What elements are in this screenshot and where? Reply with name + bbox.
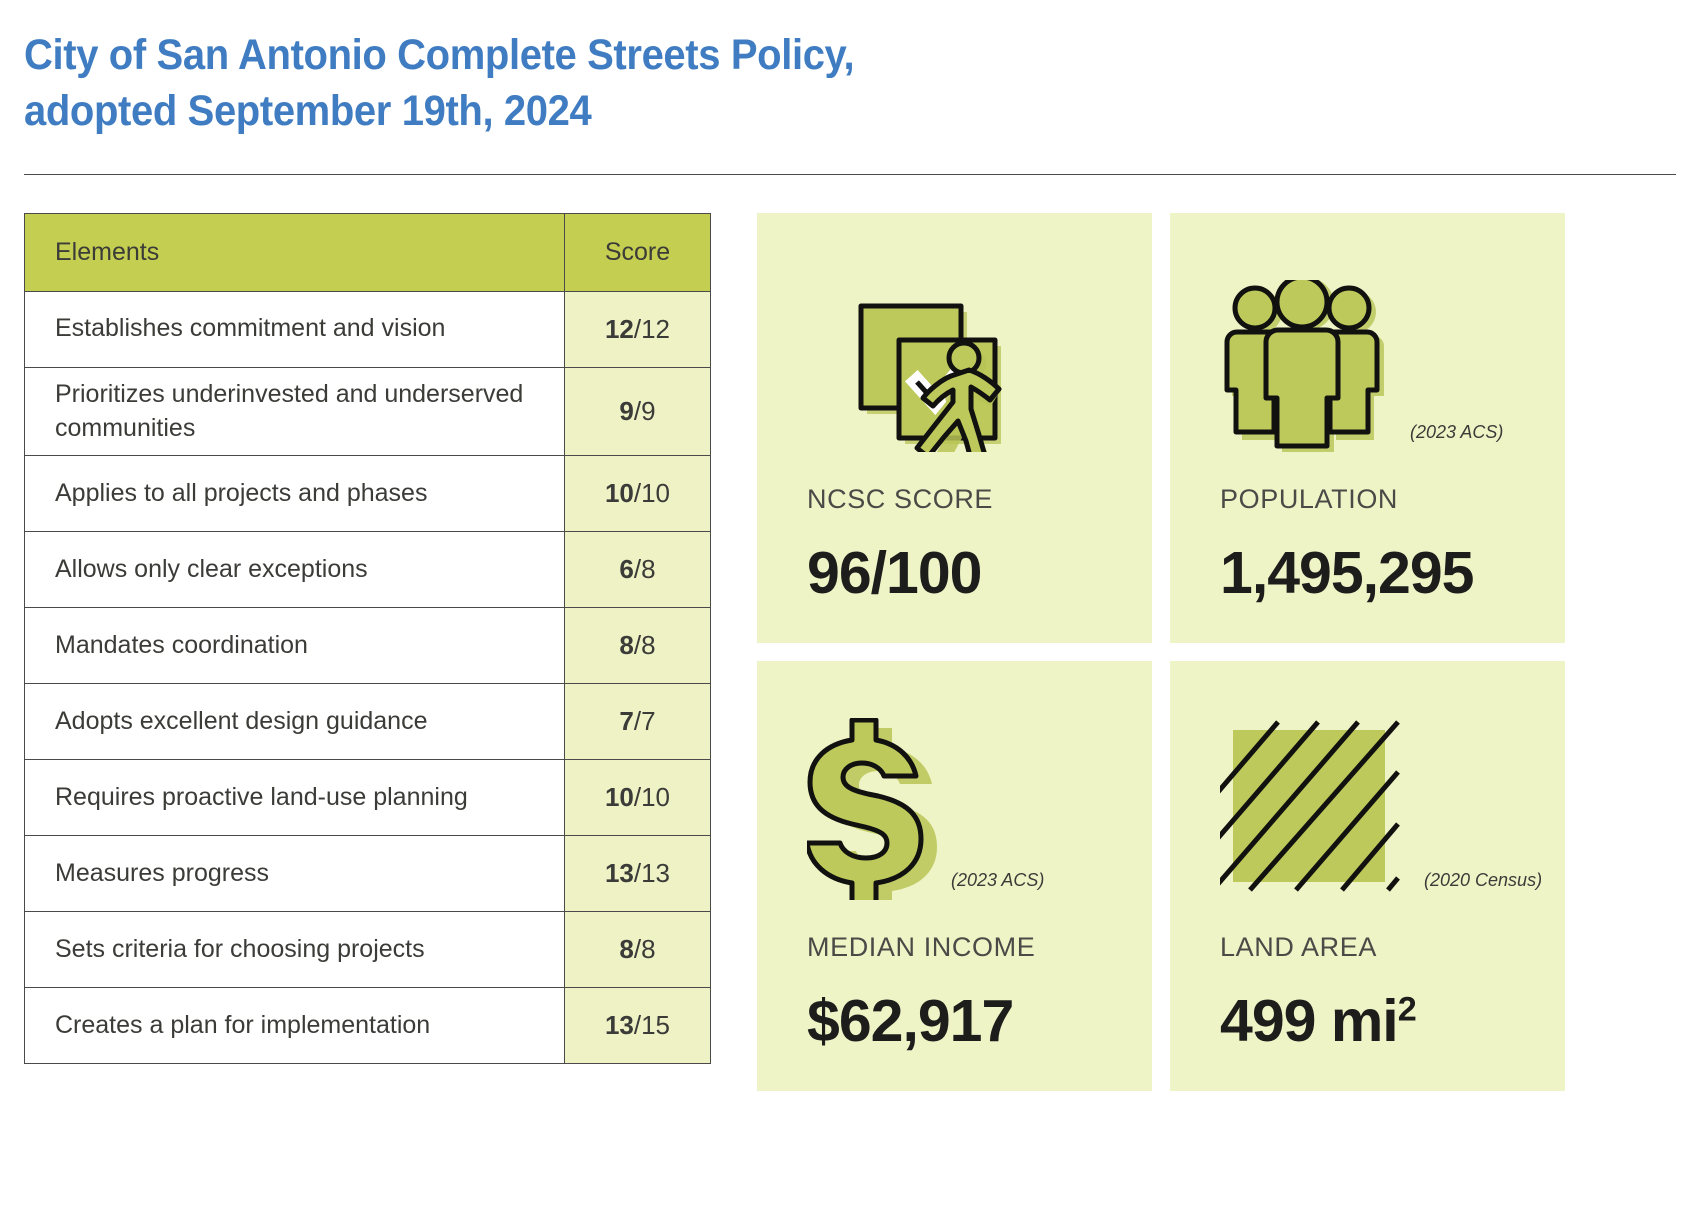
icon-row: (2023 ACS) [1170, 257, 1565, 457]
card-label-population: POPULATION [1220, 484, 1398, 515]
score-earned: 10 [605, 782, 634, 812]
stat-card-grid: NCSC SCORE 96/100 [757, 213, 1565, 1091]
stat-card-ncsc-score: NCSC SCORE 96/100 [757, 213, 1152, 643]
score-possible: /15 [634, 1010, 670, 1040]
element-name-cell: Sets criteria for choosing projects [25, 912, 565, 988]
land-area-number: 499 mi [1220, 988, 1398, 1054]
column-header-elements: Elements [25, 213, 565, 291]
hatched-square-icon [1220, 720, 1410, 905]
score-cell: 8/8 [565, 608, 711, 684]
score-possible: /9 [634, 396, 656, 426]
element-name-cell: Requires proactive land-use planning [25, 760, 565, 836]
policy-elements-table: Elements Score Establishes commitment an… [24, 213, 711, 1065]
score-earned: 7 [619, 706, 633, 736]
score-cell: 6/8 [565, 532, 711, 608]
score-cell: 10/10 [565, 456, 711, 532]
score-cell: 13/15 [565, 988, 711, 1064]
table-row: Creates a plan for implementation13/15 [25, 988, 711, 1064]
main-content: Elements Score Establishes commitment an… [0, 175, 1700, 1091]
score-cell: 10/10 [565, 760, 711, 836]
table-row: Establishes commitment and vision12/12 [25, 291, 711, 367]
table-row: Mandates coordination8/8 [25, 608, 711, 684]
card-note: (2020 Census) [1424, 870, 1542, 891]
table-row: Sets criteria for choosing projects8/8 [25, 912, 711, 988]
score-earned: 8 [619, 934, 633, 964]
land-area-exponent: 2 [1398, 990, 1416, 1028]
icon-row [757, 257, 1152, 457]
score-cell: 12/12 [565, 291, 711, 367]
score-earned: 6 [619, 554, 633, 584]
card-value-ncsc-score: 96/100 [807, 544, 981, 603]
table-header-row: Elements Score [25, 213, 711, 291]
score-earned: 9 [619, 396, 633, 426]
score-possible: /8 [634, 554, 656, 584]
card-note: (2023 ACS) [951, 870, 1044, 891]
score-possible: /8 [634, 934, 656, 964]
score-possible: /10 [634, 782, 670, 812]
card-value-population: 1,495,295 [1220, 544, 1473, 603]
score-earned: 8 [619, 630, 633, 660]
score-earned: 13 [605, 1010, 634, 1040]
score-cell: 9/9 [565, 367, 711, 456]
score-earned: 12 [605, 314, 634, 344]
element-name-cell: Creates a plan for implementation [25, 988, 565, 1064]
icon-row: (2023 ACS) [757, 705, 1152, 905]
table-row: Allows only clear exceptions6/8 [25, 532, 711, 608]
element-name-cell: Mandates coordination [25, 608, 565, 684]
dollar-sign-icon [807, 718, 937, 905]
score-cell: 13/13 [565, 836, 711, 912]
element-name-cell: Allows only clear exceptions [25, 532, 565, 608]
table-row: Prioritizes underinvested and underserve… [25, 367, 711, 456]
score-earned: 10 [605, 478, 634, 508]
score-earned: 13 [605, 858, 634, 888]
stat-card-land-area: (2020 Census) LAND AREA 499 mi2 [1170, 661, 1565, 1091]
card-value-land-area: 499 mi2 [1220, 992, 1416, 1051]
card-value-median-income: $62,917 [807, 992, 1013, 1051]
card-label-land-area: LAND AREA [1220, 932, 1377, 963]
icon-row: (2020 Census) [1170, 705, 1565, 905]
element-name-cell: Applies to all projects and phases [25, 456, 565, 532]
element-name-cell: Establishes commitment and vision [25, 291, 565, 367]
checklist-pedestrian-icon [807, 274, 1007, 457]
score-possible: /12 [634, 314, 670, 344]
card-label-median-income: MEDIAN INCOME [807, 932, 1035, 963]
page-header: City of San Antonio Complete Streets Pol… [0, 0, 1700, 140]
stat-card-population: (2023 ACS) POPULATION 1,495,295 [1170, 213, 1565, 643]
element-name-cell: Adopts excellent design guidance [25, 684, 565, 760]
page-title: City of San Antonio Complete Streets Pol… [24, 28, 1560, 140]
element-name-cell: Prioritizes underinvested and underserve… [25, 367, 565, 456]
score-possible: /10 [634, 478, 670, 508]
table-row: Requires proactive land-use planning10/1… [25, 760, 711, 836]
people-group-icon [1220, 280, 1396, 457]
column-header-score: Score [565, 213, 711, 291]
score-cell: 7/7 [565, 684, 711, 760]
card-note: (2023 ACS) [1410, 422, 1503, 443]
score-cell: 8/8 [565, 912, 711, 988]
table-row: Measures progress13/13 [25, 836, 711, 912]
score-possible: /13 [634, 858, 670, 888]
element-name-cell: Measures progress [25, 836, 565, 912]
table-row: Adopts excellent design guidance7/7 [25, 684, 711, 760]
stat-card-median-income: (2023 ACS) MEDIAN INCOME $62,917 [757, 661, 1152, 1091]
table-row: Applies to all projects and phases10/10 [25, 456, 711, 532]
score-possible: /7 [634, 706, 656, 736]
score-possible: /8 [634, 630, 656, 660]
card-label-ncsc-score: NCSC SCORE [807, 484, 993, 515]
